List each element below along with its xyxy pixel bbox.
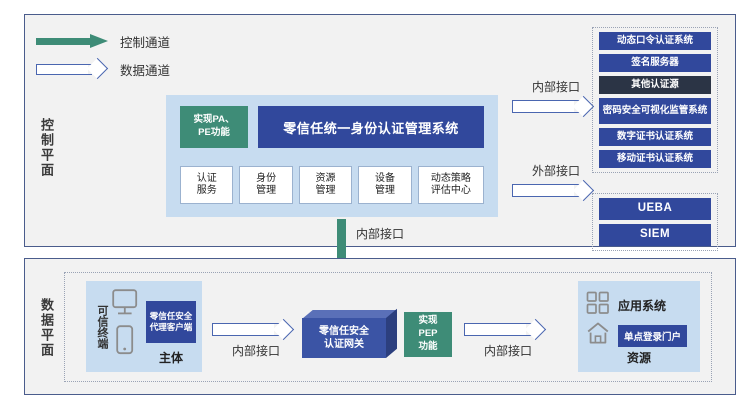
external-interface-arrow-group: 外部接口 — [512, 162, 600, 200]
pa-pe-line2: PE功能 — [198, 127, 230, 140]
legend-label-data-channel: 数据通道 — [120, 60, 170, 79]
zero-trust-agent-client-box: 零信任安全代理客户端 — [146, 301, 196, 343]
pa-pe-line1: 实现PA、 — [194, 114, 235, 127]
sso-portal-box: 单点登录门户 — [618, 325, 687, 347]
submodule-device-management[interactable]: 设备 管理 — [358, 166, 411, 204]
submodule-identity-management[interactable]: 身份 管理 — [239, 166, 292, 204]
subject-block: 可信终端 零信任安全代理客户端 主体 — [86, 281, 202, 372]
external-interface-label: 外部接口 — [512, 162, 600, 179]
submodule-label: 评估中心 — [431, 185, 471, 198]
system-item-mobile-certificate[interactable]: 移动证书认证系统 — [599, 150, 711, 168]
data-arrow-1-label: 内部接口 — [212, 342, 300, 359]
pa-pe-function-box: 实现PA、 PE功能 — [180, 106, 248, 148]
submodule-label: 认证 — [197, 173, 217, 186]
system-item-otp[interactable]: 动态口令认证系统 — [599, 32, 711, 50]
legend-item-data-channel: 数据通道 — [36, 58, 216, 80]
arrow-right-icon — [36, 34, 110, 49]
pep-line1: 实现 — [418, 315, 437, 328]
data-arrow-subject-to-gateway: 内部接口 — [212, 318, 300, 359]
zero-trust-gateway-box: 零信任安全 认证网关 — [302, 310, 398, 358]
data-arrow-2-label: 内部接口 — [464, 342, 552, 359]
arrow-right-outline-icon — [512, 181, 600, 200]
internal-interface-label: 内部接口 — [512, 78, 600, 95]
control-core-container: 实现PA、 PE功能 零信任统一身份认证管理系统 认证 服务 身份 管理 资源 … — [166, 95, 498, 217]
submodule-label: 服务 — [197, 185, 217, 198]
system-item-crypto-visual-supervision[interactable]: 密码安全可视化监管系统 — [599, 98, 711, 124]
submodule-label: 身份 — [256, 173, 276, 186]
analytics-systems-group: UEBA SIEM — [592, 193, 718, 251]
system-item-siem[interactable]: SIEM — [599, 224, 711, 246]
submodule-auth-service[interactable]: 认证 服务 — [180, 166, 233, 204]
system-item-signature-server[interactable]: 签名服务器 — [599, 54, 711, 72]
submodule-label: 管理 — [316, 185, 336, 198]
arrow-right-outline-icon — [464, 320, 552, 339]
grid-icon — [586, 291, 610, 320]
house-icon — [586, 321, 610, 350]
auth-source-systems-group: 动态口令认证系统 签名服务器 其他认证源 密码安全可视化监管系统 数字证书认证系… — [592, 27, 718, 173]
submodule-label: 资源 — [316, 173, 336, 186]
submodule-label: 动态策略 — [431, 173, 471, 186]
submodule-label: 设备 — [375, 173, 395, 186]
system-item-other-auth-source[interactable]: 其他认证源 — [599, 76, 711, 94]
pep-line2: PEP — [418, 328, 437, 341]
submodule-row: 认证 服务 身份 管理 资源 管理 设备 管理 动态策略 评估中心 — [180, 166, 484, 204]
sso-portal-row: 单点登录门户 — [586, 321, 687, 350]
legend-label-control-channel: 控制通道 — [120, 32, 170, 51]
main-system-banner: 零信任统一身份认证管理系统 — [258, 106, 484, 148]
submodule-resource-management[interactable]: 资源 管理 — [299, 166, 352, 204]
system-item-ueba[interactable]: UEBA — [599, 198, 711, 220]
data-arrow-gateway-to-resource: 内部接口 — [464, 318, 552, 359]
app-system-row: 应用系统 — [586, 291, 666, 320]
arrow-right-outline-icon — [512, 97, 600, 116]
phone-icon — [116, 325, 134, 360]
data-plane-label: 数据平面 — [28, 288, 54, 368]
submodule-label: 管理 — [256, 185, 276, 198]
resource-label: 资源 — [578, 349, 700, 366]
pep-line3: 功能 — [418, 341, 437, 354]
system-item-digital-certificate[interactable]: 数字证书认证系统 — [599, 128, 711, 146]
arrow-right-outline-icon — [36, 62, 110, 77]
control-plane-label: 控制平面 — [28, 100, 54, 195]
vertical-interface-label: 内部接口 — [356, 225, 404, 242]
submodule-label: 管理 — [375, 185, 395, 198]
subject-label: 主体 — [142, 349, 200, 366]
legend: 控制通道 数据通道 — [36, 30, 216, 86]
arrow-right-outline-icon — [212, 320, 300, 339]
internal-interface-arrow-group: 内部接口 — [512, 78, 600, 116]
gateway-line2: 认证网关 — [324, 338, 364, 352]
app-system-label: 应用系统 — [618, 297, 666, 314]
legend-item-control-channel: 控制通道 — [36, 30, 216, 52]
monitor-icon — [112, 289, 138, 324]
submodule-dynamic-policy-center[interactable]: 动态策略 评估中心 — [418, 166, 484, 204]
resource-block: 应用系统 单点登录门户 资源 — [578, 281, 700, 372]
trusted-terminal-label: 可信终端 — [91, 291, 107, 363]
gateway-line1: 零信任安全 — [319, 325, 369, 339]
pep-function-box: 实现 PEP 功能 — [404, 312, 452, 357]
